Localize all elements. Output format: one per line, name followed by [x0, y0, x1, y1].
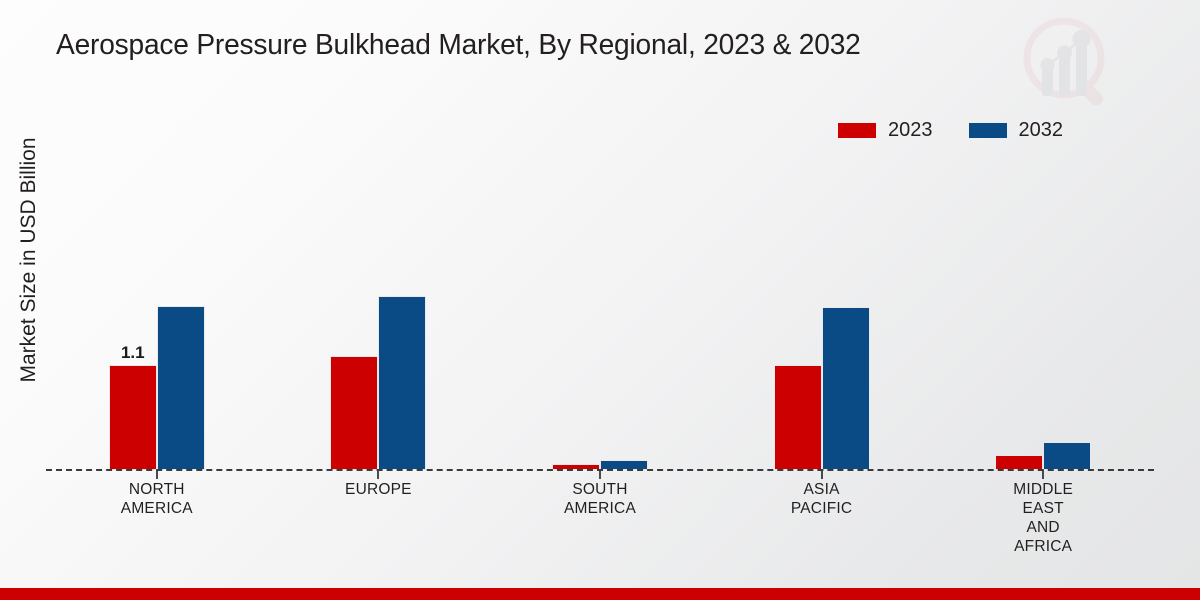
x-axis-baseline: [46, 469, 1154, 471]
bar-value-label: 1.1: [121, 343, 145, 363]
bar-group-middle-east-and-africa: [932, 170, 1154, 470]
chart-title: Aerospace Pressure Bulkhead Market, By R…: [56, 28, 861, 62]
bar-2032-middle-east-and-africa[interactable]: [1043, 442, 1091, 470]
category-label-europe: EUROPE: [268, 480, 490, 556]
legend-label-2023: 2023: [888, 120, 933, 140]
bar-2032-asia-pacific[interactable]: [822, 307, 870, 470]
bar-2023-north-america[interactable]: 1.1: [109, 365, 157, 470]
legend-item-2023[interactable]: 2023: [838, 120, 933, 140]
axis-tick: [377, 470, 379, 479]
category-line: EUROPE: [268, 480, 490, 499]
category-line: SOUTH: [489, 480, 711, 499]
axis-tick: [821, 470, 823, 479]
category-line: PACIFIC: [711, 499, 933, 518]
category-line: NORTH: [46, 480, 268, 499]
category-line: MIDDLE: [932, 480, 1154, 499]
bar-group-south-america: [489, 170, 711, 470]
bar-group-north-america: 1.1: [46, 170, 268, 470]
category-label-asia-pacific: ASIA PACIFIC: [711, 480, 933, 556]
footer-accent-stripe: [0, 588, 1200, 600]
category-label-middle-east-and-africa: MIDDLE EAST AND AFRICA: [932, 480, 1154, 556]
bar-2032-europe[interactable]: [378, 296, 426, 470]
category-label-north-america: NORTH AMERICA: [46, 480, 268, 556]
chart-canvas: Aerospace Pressure Bulkhead Market, By R…: [0, 0, 1200, 600]
axis-tick: [599, 470, 601, 479]
axis-tick: [156, 470, 158, 479]
category-line: AND: [932, 518, 1154, 537]
bar-2023-middle-east-and-africa[interactable]: [995, 455, 1043, 470]
bar-2023-asia-pacific[interactable]: [774, 365, 822, 470]
y-axis-title: Market Size in USD Billion: [17, 100, 41, 420]
category-line: EAST: [932, 499, 1154, 518]
category-line: AMERICA: [489, 499, 711, 518]
chart-legend: 2023 2032: [838, 120, 1063, 140]
category-line: AFRICA: [932, 537, 1154, 556]
category-line: AMERICA: [46, 499, 268, 518]
bar-2023-europe[interactable]: [330, 356, 378, 470]
category-label-south-america: SOUTH AMERICA: [489, 480, 711, 556]
bar-group-asia-pacific: [711, 170, 933, 470]
legend-label-2032: 2032: [1019, 120, 1064, 140]
category-line: ASIA: [711, 480, 933, 499]
legend-item-2032[interactable]: 2032: [969, 120, 1064, 140]
x-axis-category-labels: NORTH AMERICA EUROPE SOUTH AMERICA ASIA …: [46, 480, 1154, 556]
bar-group-europe: [268, 170, 490, 470]
bar-groups: 1.1: [46, 170, 1154, 470]
watermark-logo: [1012, 8, 1122, 118]
legend-swatch-2032: [969, 123, 1007, 138]
legend-swatch-2023: [838, 123, 876, 138]
axis-tick: [1042, 470, 1044, 479]
bar-2032-north-america[interactable]: [157, 306, 205, 470]
